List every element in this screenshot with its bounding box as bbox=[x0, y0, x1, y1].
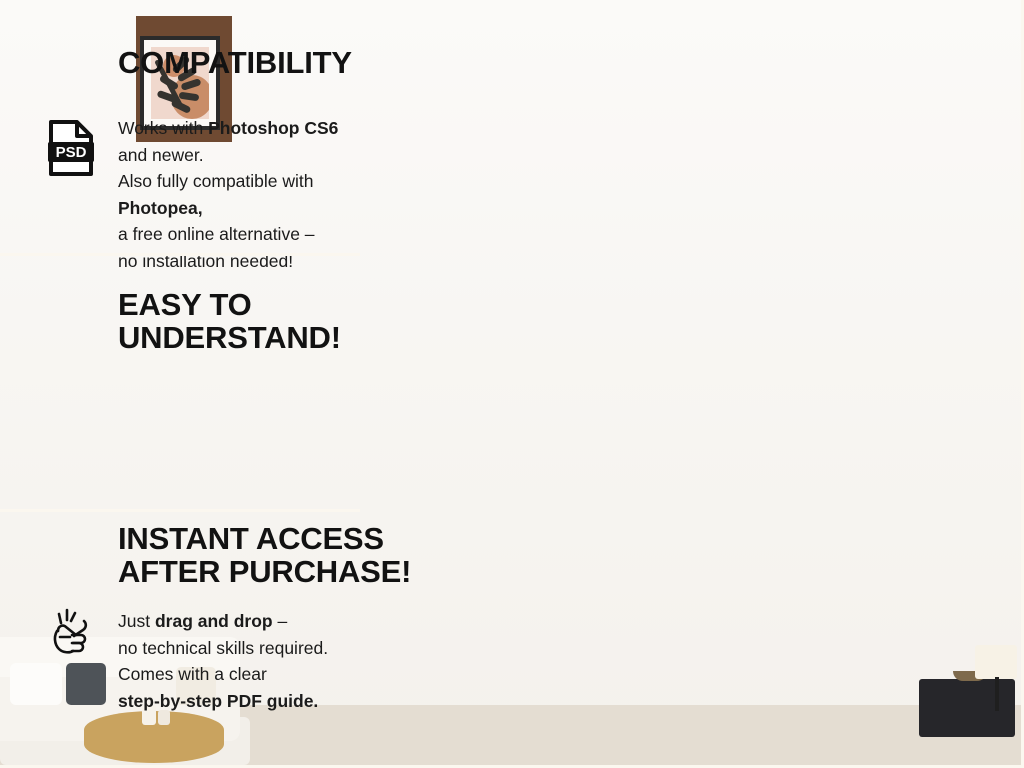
section-instant-access: INSTANT ACCESSAFTER PURCHASE! You’ll rec… bbox=[0, 512, 360, 768]
section-body-compatibility: Works with Photoshop CS6and newer.Also f… bbox=[118, 115, 360, 274]
section-compatibility: COMPATIBILITY PSD Works with Photoshop C… bbox=[0, 0, 360, 256]
svg-text:PSD: PSD bbox=[56, 144, 87, 161]
section-divider bbox=[0, 509, 360, 512]
section-easy-to-understand: EASY TO UNDERSTAND! Just drag and drop –… bbox=[0, 256, 360, 512]
text-overlay: COMPATIBILITY PSD Works with Photoshop C… bbox=[0, 0, 1024, 768]
promo-sheet: BREATHE bbox=[0, 0, 1024, 768]
section-heading-compatibility: COMPATIBILITY bbox=[118, 46, 352, 79]
psd-file-icon: PSD bbox=[48, 120, 94, 181]
section-heading-instant-access: INSTANT ACCESSAFTER PURCHASE! bbox=[118, 522, 411, 589]
section-divider bbox=[0, 253, 360, 256]
section-heading-easy-to-understand: EASY TO UNDERSTAND! bbox=[118, 288, 360, 355]
